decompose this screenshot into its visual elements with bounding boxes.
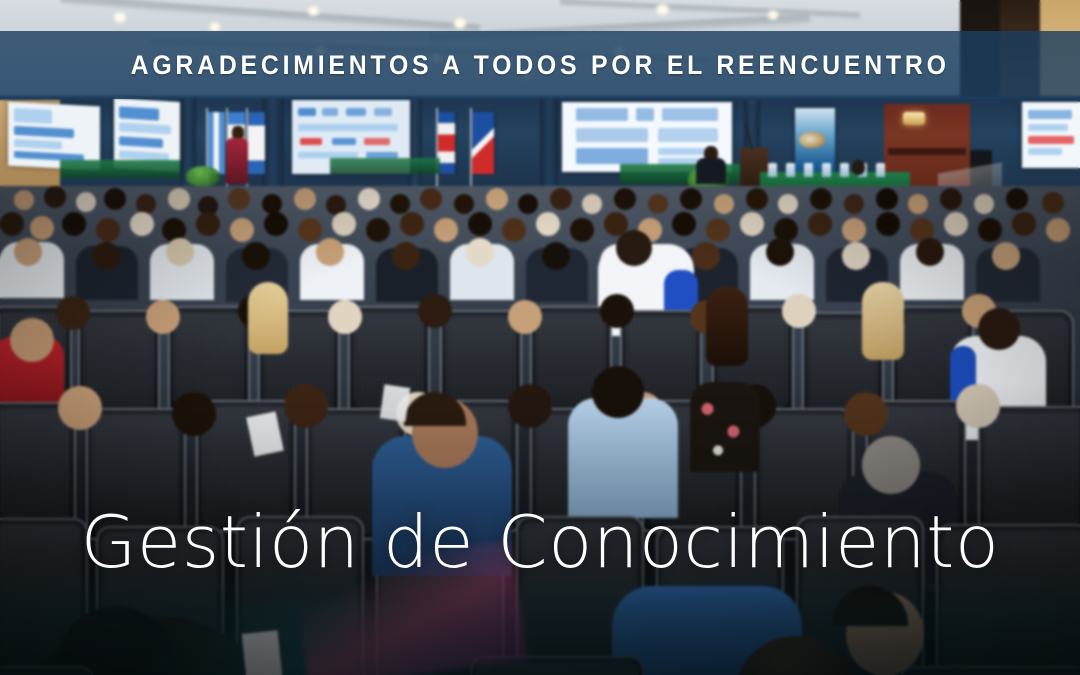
ceiling-light — [766, 10, 780, 20]
page-title: Gestión de Conocimiento — [0, 506, 1080, 578]
banner-text: AGRADECIMIENTOS A TODOS POR EL REENCUENT… — [130, 50, 949, 81]
ceiling-beam — [560, 0, 860, 19]
water-bottle — [786, 163, 795, 177]
attendee-long-hair — [862, 282, 904, 360]
flag-costa-rica — [438, 112, 455, 174]
rollup-graphic — [799, 132, 825, 148]
flag-el-salvador — [248, 112, 265, 174]
handout-paper — [380, 384, 410, 421]
flag-dominican-republic — [472, 112, 494, 174]
water-bottle — [876, 163, 885, 177]
ceiling-light — [654, 4, 671, 15]
skirted-table — [60, 160, 180, 178]
water-bottle — [822, 163, 831, 177]
attendee-long-hair — [248, 282, 288, 354]
water-bottle — [768, 163, 777, 177]
projection-screen-right — [1022, 102, 1080, 168]
water-bottle — [804, 163, 813, 177]
attendee-head — [616, 230, 652, 266]
door-rail — [888, 148, 966, 155]
audience — [0, 186, 1080, 675]
acknowledgement-banner: AGRADECIMIENTOS A TODOS POR EL REENCUENT… — [0, 31, 1080, 99]
flag-guatemala — [208, 112, 225, 174]
presenter-body — [226, 138, 248, 184]
attendee-head — [58, 386, 102, 430]
water-bottle — [840, 163, 849, 177]
ceiling-light — [306, 6, 321, 16]
seated-panelist — [852, 160, 865, 175]
wall-lamp — [903, 112, 925, 125]
ceiling-light — [452, 18, 468, 29]
ceiling-light — [112, 12, 128, 23]
skirted-table — [330, 158, 440, 174]
attendee-floral-dress — [690, 382, 760, 472]
conference-photo-banner: AGRADECIMIENTOS A TODOS POR EL REENCUENT… — [0, 0, 1080, 675]
seated-person-body — [696, 158, 726, 184]
decorative-plant — [186, 166, 220, 186]
handout-paper — [242, 630, 283, 675]
